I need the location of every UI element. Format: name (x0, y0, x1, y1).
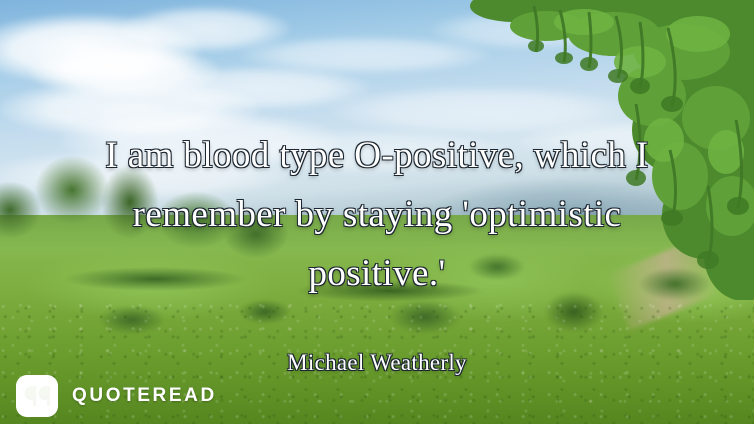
quote-line-3: positive.' (28, 244, 726, 303)
quote-image-card: I am blood type O-positive, which I reme… (0, 0, 754, 424)
author-name: Michael Weatherly (0, 348, 754, 378)
double-quote-icon (16, 375, 58, 417)
quote-line-2: remember by staying 'optimistic (28, 185, 726, 244)
quote-block: I am blood type O-positive, which I reme… (0, 126, 754, 303)
brand-name: QUOTEREAD (72, 385, 217, 407)
brand-logo[interactable]: QUOTEREAD (16, 375, 217, 417)
quote-line-1: I am blood type O-positive, which I (28, 126, 726, 185)
cloud (430, 10, 630, 50)
